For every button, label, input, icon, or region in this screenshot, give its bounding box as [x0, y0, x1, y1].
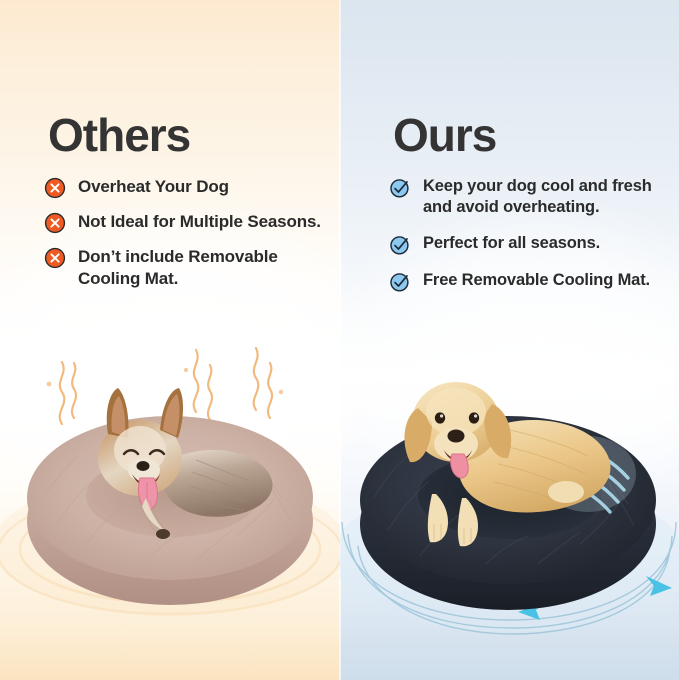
- others-feature-list: Overheat Your Dog Not Ideal for Multiple…: [44, 176, 334, 302]
- list-item: Overheat Your Dog: [44, 176, 334, 199]
- cross-circle-icon: [44, 247, 66, 269]
- comparison-infographic: Others Ours Overheat Your Dog Not Ideal …: [0, 0, 679, 680]
- list-item-label: Not Ideal for Multiple Seasons.: [78, 211, 321, 233]
- check-circle-icon: [389, 177, 411, 199]
- ours-feature-list: Keep your dog cool and fresh and avoid o…: [389, 176, 667, 307]
- list-item-label: Overheat Your Dog: [78, 176, 229, 198]
- check-circle-icon: [389, 234, 411, 256]
- list-item-label: Free Removable Cooling Mat.: [423, 270, 650, 291]
- yorkshire-terrier-on-beige-bed: [0, 346, 340, 680]
- list-item: Free Removable Cooling Mat.: [389, 270, 667, 293]
- cross-circle-icon: [44, 177, 66, 199]
- list-item: Perfect for all seasons.: [389, 233, 667, 256]
- list-item-label: Keep your dog cool and fresh and avoid o…: [423, 176, 667, 219]
- others-heading: Others: [48, 112, 190, 158]
- heat-droplets: [47, 368, 284, 395]
- list-item-label: Don’t include Removable Cooling Mat.: [78, 246, 334, 290]
- check-circle-icon: [389, 271, 411, 293]
- golden-retriever-on-charcoal-bed: [340, 346, 679, 680]
- list-item: Not Ideal for Multiple Seasons.: [44, 211, 334, 234]
- list-item: Keep your dog cool and fresh and avoid o…: [389, 176, 667, 219]
- ours-heading: Ours: [393, 112, 496, 158]
- list-item-label: Perfect for all seasons.: [423, 233, 600, 254]
- cross-circle-icon: [44, 212, 66, 234]
- list-item: Don’t include Removable Cooling Mat.: [44, 246, 334, 290]
